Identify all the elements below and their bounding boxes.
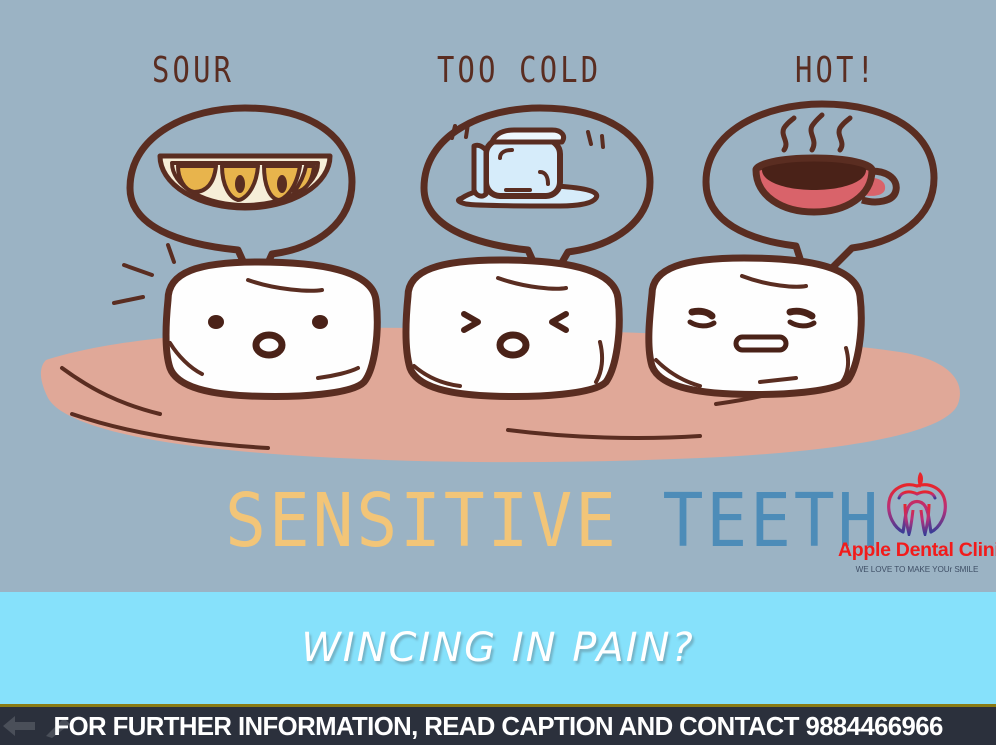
banner-text: WINCING IN PAIN? bbox=[301, 625, 695, 671]
poster-canvas: .ol { fill:none; stroke:#5A2D21; stroke-… bbox=[0, 0, 996, 745]
title-word-sensitive: SENSITIVE bbox=[225, 478, 619, 564]
tooth-1-eye-right bbox=[312, 315, 328, 329]
tooth-3 bbox=[649, 258, 861, 394]
tooth-1-eye-left bbox=[208, 315, 224, 329]
footer-text: FOR FURTHER INFORMATION, READ CAPTION AN… bbox=[53, 711, 942, 742]
page-title: SENSITIVE TEETH bbox=[225, 478, 881, 564]
clinic-logo[interactable]: Apple Dental Clinic WE LOVE TO MAKE YOUr… bbox=[838, 470, 996, 592]
banner: WINCING IN PAIN? bbox=[0, 592, 996, 704]
footer-bar: FOR FURTHER INFORMATION, READ CAPTION AN… bbox=[0, 704, 996, 745]
label-hot: HOT! bbox=[795, 50, 877, 91]
tooth-2 bbox=[406, 260, 619, 396]
clinic-tagline: WE LOVE TO MAKE YOUr SMILE bbox=[841, 565, 993, 574]
label-too-cold: TOO COLD bbox=[437, 50, 601, 91]
clinic-name: Apple Dental Clinic bbox=[838, 541, 996, 561]
tooth-1 bbox=[166, 262, 377, 396]
apple-tooth-logo-icon bbox=[875, 470, 959, 536]
label-sour: SOUR bbox=[152, 50, 234, 91]
